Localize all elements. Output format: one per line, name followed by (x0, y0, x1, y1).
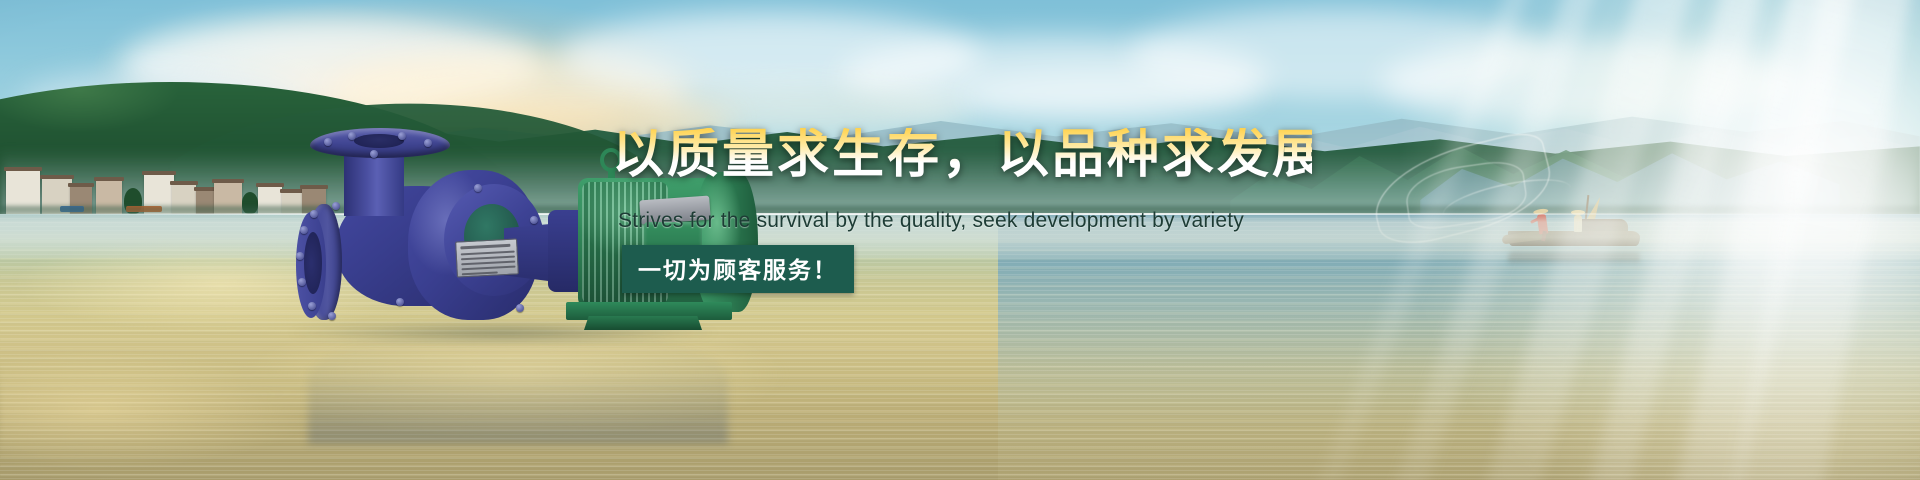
flange-bolt (296, 252, 304, 260)
motor-foot (584, 316, 702, 330)
flange-bolt (348, 132, 356, 140)
nameplate-text-row (462, 271, 498, 275)
fishing-boat (1502, 196, 1652, 254)
flange-bolt (398, 132, 406, 140)
nameplate-text-row (460, 244, 510, 250)
casing-bolt (516, 304, 524, 312)
flange-bolt (332, 202, 340, 210)
pump-water-reflection (308, 334, 728, 444)
discharge-flange-bore (354, 134, 404, 148)
boat-reflection (1508, 252, 1640, 266)
cloud (1380, 40, 1800, 126)
nameplate-text-row (461, 261, 515, 266)
flange-bolt (300, 226, 308, 234)
banner-copy: 以质量求生存，以品种求发展 Strives for the survival b… (612, 128, 1312, 293)
banner-subheadline: Strives for the survival by the quality,… (618, 209, 1312, 233)
flange-bolt (328, 312, 336, 320)
flange-bolt (370, 150, 378, 158)
flange-bolt (310, 210, 318, 218)
suction-flange-bore (304, 232, 322, 294)
flange-bolt (424, 139, 432, 147)
pump-discharge-neck (344, 150, 404, 216)
flange-bolt (308, 302, 316, 310)
banner-headline: 以质量求生存，以品种求发展 (612, 128, 1312, 183)
service-slogan-badge: 一切为顾客服务！ (622, 245, 854, 293)
cloud (960, 70, 1260, 116)
casing-bolt (474, 184, 482, 192)
casing-bolt (530, 216, 538, 224)
nameplate-text-row (462, 266, 516, 271)
hero-banner: 以质量求生存，以品种求发展 Strives for the survival b… (0, 0, 1920, 480)
casing-bolt (396, 298, 404, 306)
pump-nameplate (455, 238, 519, 277)
flange-bolt (324, 138, 332, 146)
nameplate-text-row (461, 251, 515, 256)
flange-bolt (298, 278, 306, 286)
nameplate-text-row (461, 256, 515, 261)
fisherman-tan-shirt (1574, 215, 1582, 232)
